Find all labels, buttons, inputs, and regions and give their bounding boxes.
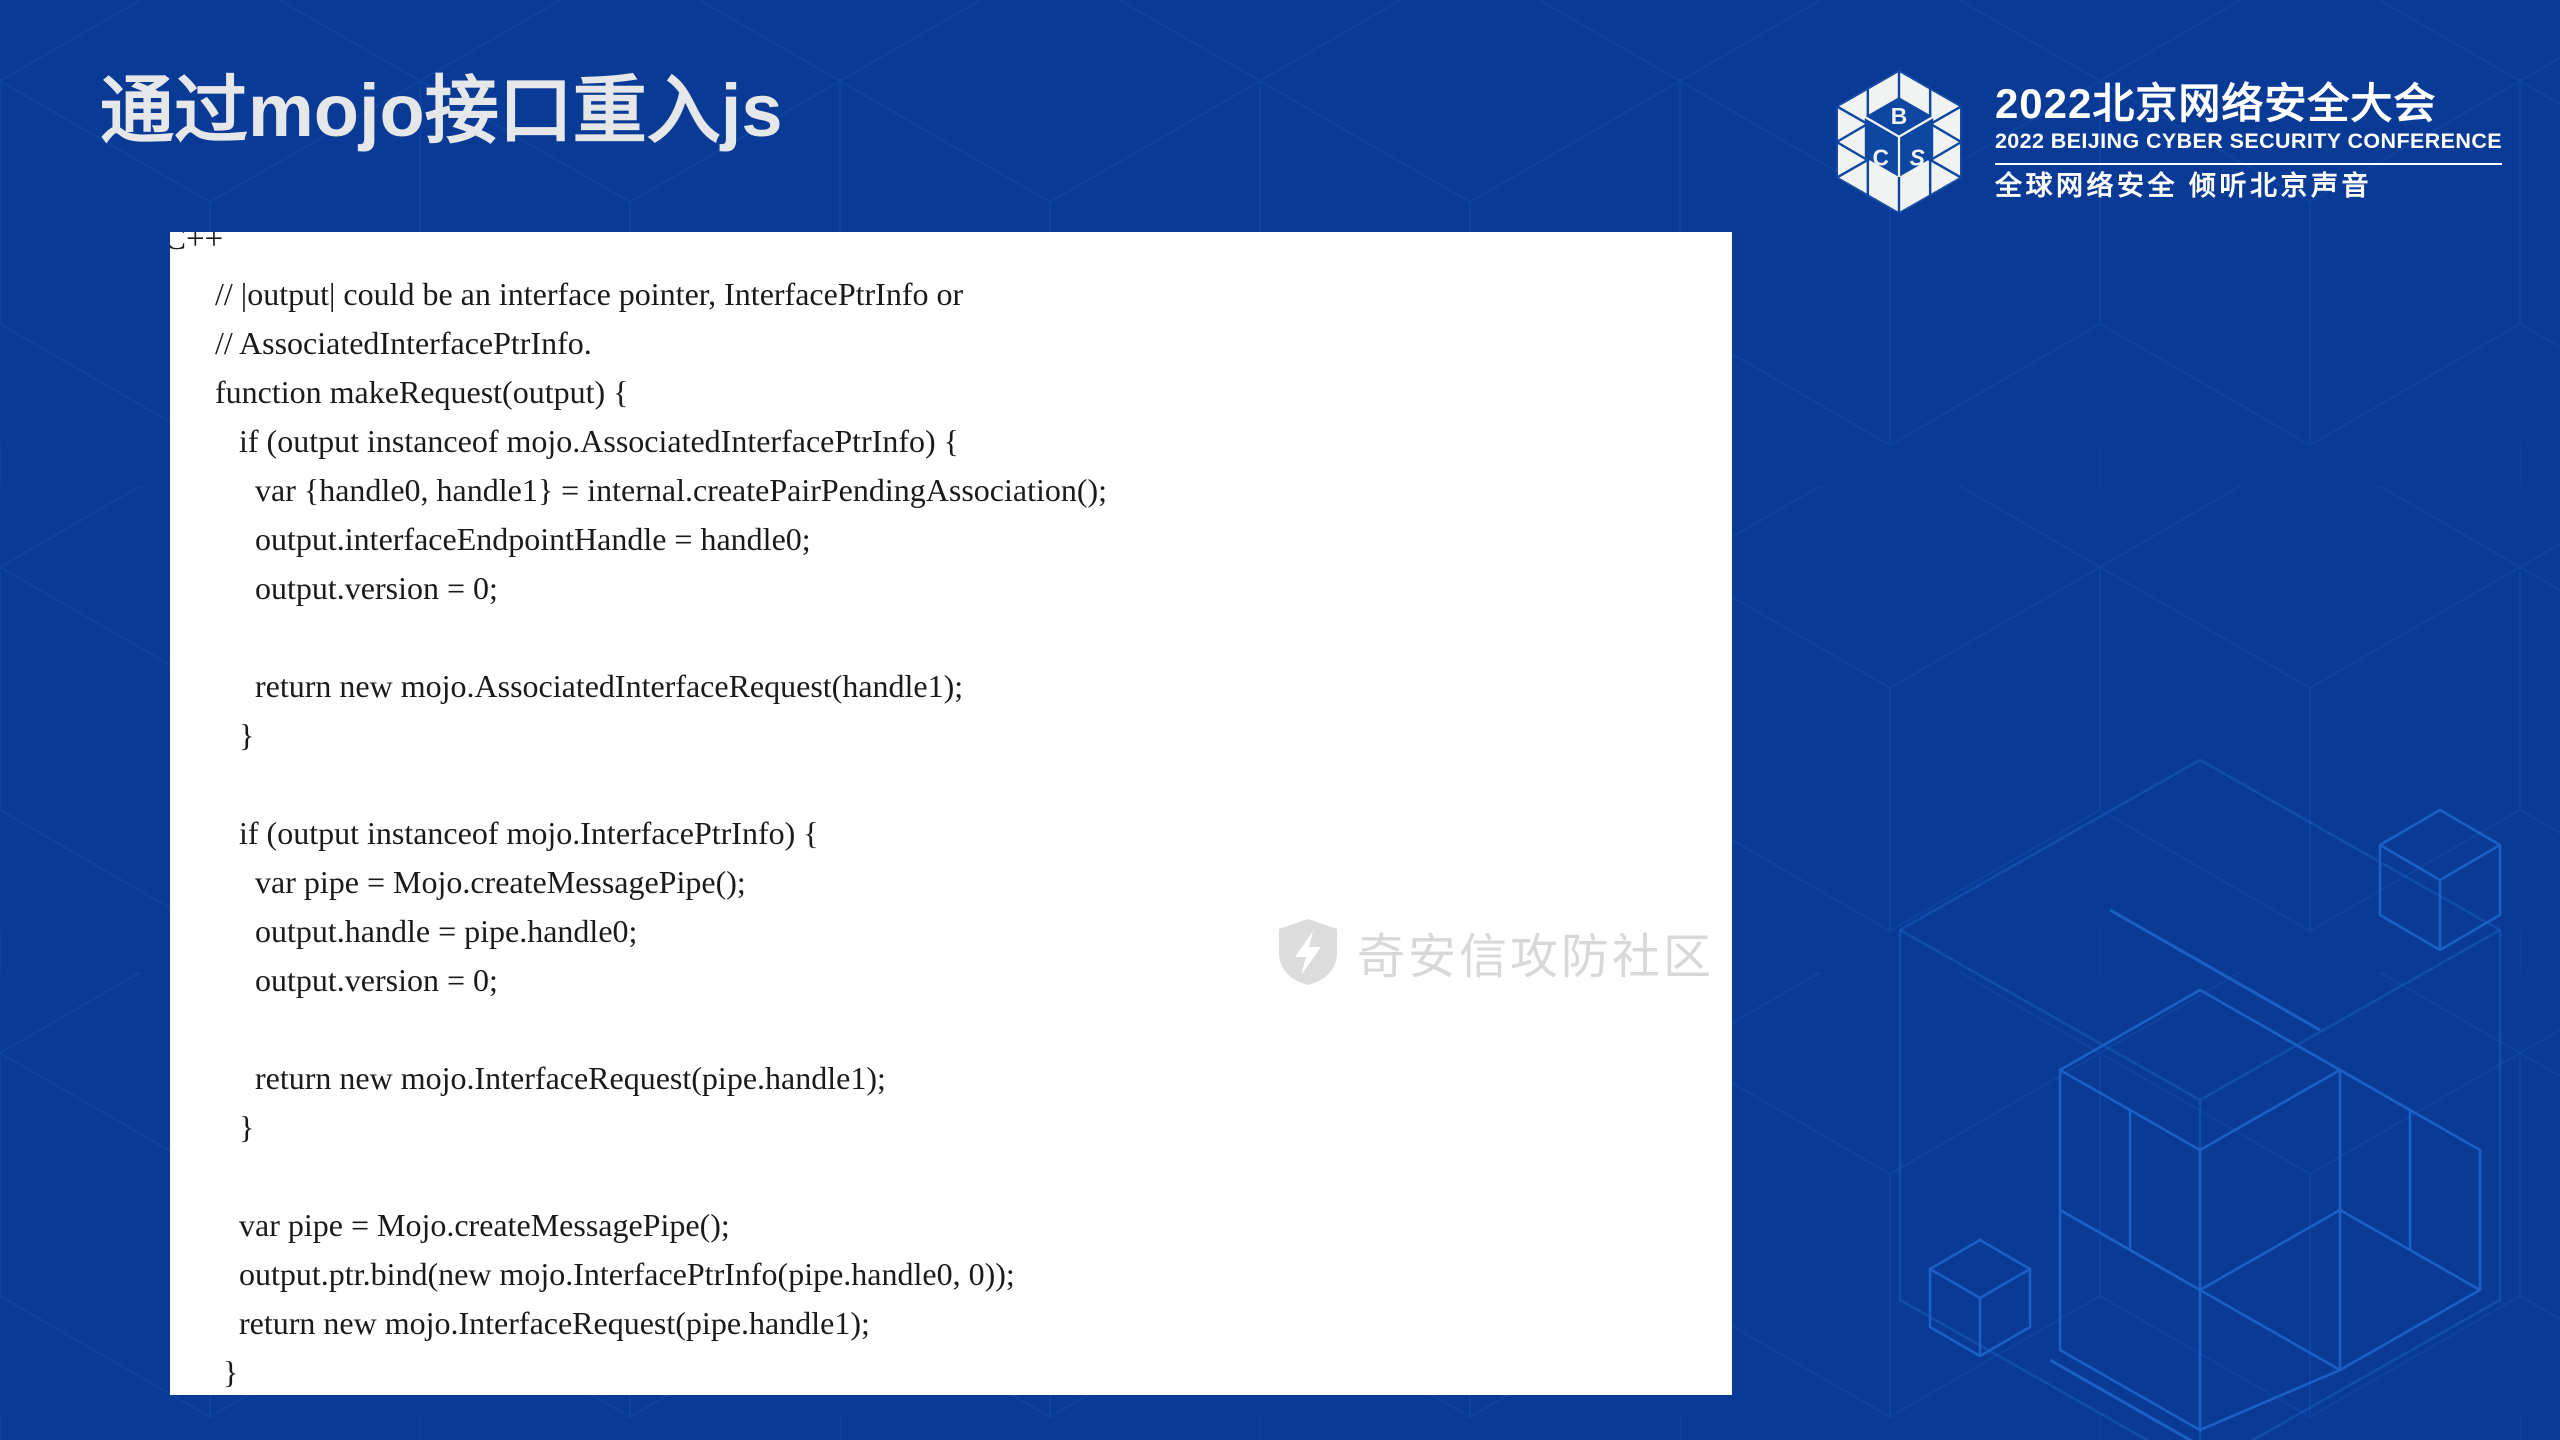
- bcs-hexagon-cube-icon: B C S: [1823, 66, 1975, 218]
- code-line: output.ptr.bind(new mojo.InterfacePtrInf…: [215, 1250, 1732, 1299]
- code-line: output.version = 0;: [215, 564, 1732, 613]
- code-line: // |output| could be an interface pointe…: [215, 270, 1732, 319]
- code-panel: C++ // |output| could be an interface po…: [170, 232, 1732, 1395]
- code-line: [215, 613, 1732, 662]
- logo-title-en: 2022 BEIJING CYBER SECURITY CONFERENCE: [1995, 127, 2502, 156]
- page-title: 通过mojo接口重入js: [100, 74, 782, 148]
- svg-text:C: C: [1872, 145, 1888, 171]
- code-line: output.interfaceEndpointHandle = handle0…: [215, 515, 1732, 564]
- code-line: [215, 1005, 1732, 1054]
- svg-text:B: B: [1891, 103, 1907, 129]
- code-line: output.version = 0;: [215, 956, 1732, 1005]
- logo-title-cn: 2022北京网络安全大会: [1995, 82, 2502, 127]
- code-block: // |output| could be an interface pointe…: [215, 270, 1732, 1395]
- code-line: }: [215, 711, 1732, 760]
- code-line: var {handle0, handle1} = internal.create…: [215, 466, 1732, 515]
- code-line: if (output instanceof mojo.AssociatedInt…: [215, 417, 1732, 466]
- code-language-label: C++: [170, 232, 223, 256]
- code-line: [215, 760, 1732, 809]
- code-line: return new mojo.InterfaceRequest(pipe.ha…: [215, 1299, 1732, 1348]
- logo-divider: [1995, 163, 2502, 165]
- code-line: [215, 1152, 1732, 1201]
- code-line: function makeRequest(output) {: [215, 368, 1732, 417]
- code-line: // AssociatedInterfacePtrInfo.: [215, 319, 1732, 368]
- code-line: var pipe = Mojo.createMessagePipe();: [215, 1201, 1732, 1250]
- code-line: output.handle = pipe.handle0;: [215, 907, 1732, 956]
- code-line: }: [215, 1348, 1732, 1395]
- code-line: return new mojo.AssociatedInterfaceReque…: [215, 662, 1732, 711]
- background-isometric-cube-art: [1780, 740, 2560, 1440]
- code-line: }: [215, 1103, 1732, 1152]
- logo-text-block: 2022北京网络安全大会 2022 BEIJING CYBER SECURITY…: [1995, 82, 2502, 201]
- slide-canvas: 通过mojo接口重入js: [0, 0, 2560, 1440]
- code-line: return new mojo.InterfaceRequest(pipe.ha…: [215, 1054, 1732, 1103]
- svg-text:S: S: [1910, 145, 1925, 171]
- bcs-logo-lockup: B C S 2022北京网络安全大会 2022 BEIJING CYBER SE…: [1823, 66, 2502, 218]
- code-line: var pipe = Mojo.createMessagePipe();: [215, 858, 1732, 907]
- logo-tagline-cn: 全球网络安全 倾听北京声音: [1995, 172, 2502, 202]
- code-line: if (output instanceof mojo.InterfacePtrI…: [215, 809, 1732, 858]
